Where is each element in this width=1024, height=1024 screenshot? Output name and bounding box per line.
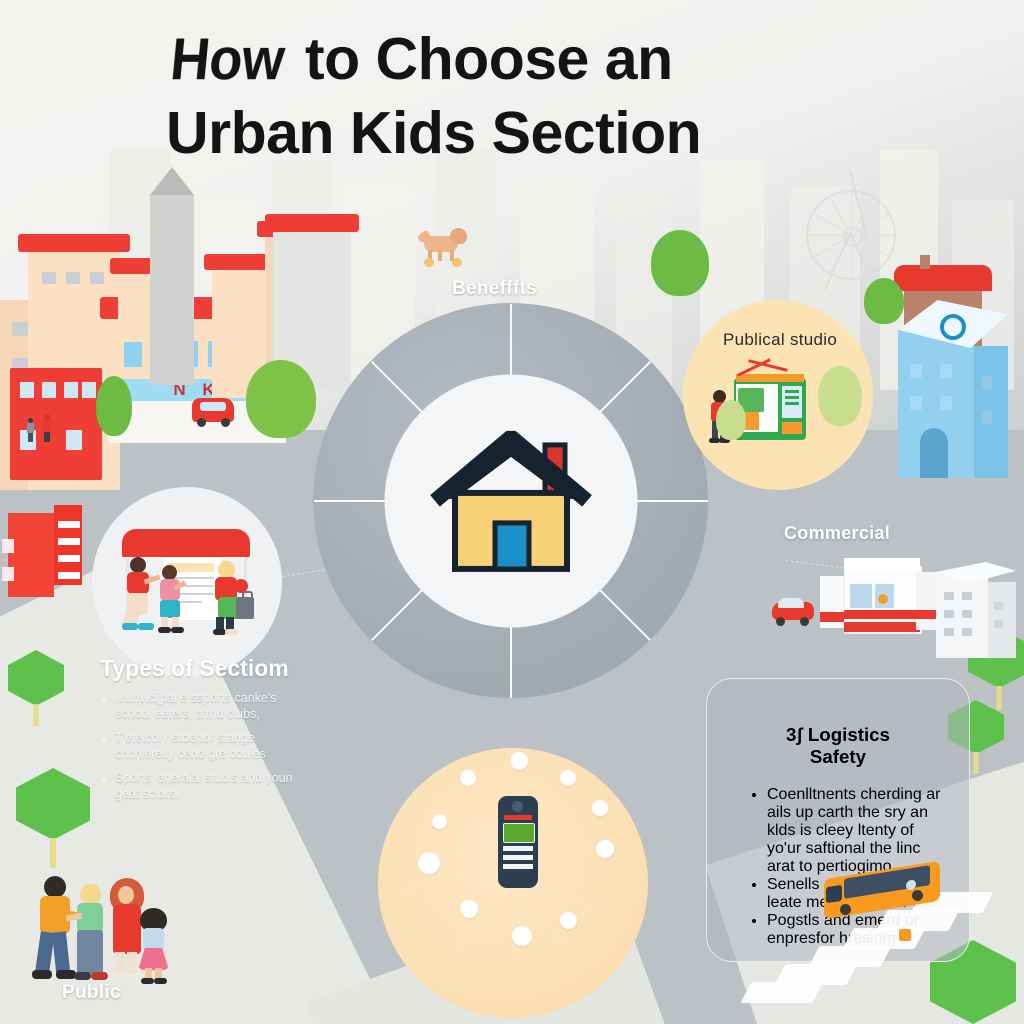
panel-heading: 3ʃ Logistics Safety: [727, 724, 949, 768]
network-node[interactable]: [432, 814, 447, 829]
blue-tower-building[interactable]: [898, 300, 1016, 480]
network-node[interactable]: [460, 900, 478, 918]
list-item: Munvicijpal é ssports canke's school eet…: [100, 691, 305, 722]
house-icon: [425, 430, 597, 576]
title-line2: Urban Kids Section: [166, 96, 886, 170]
pedestrian: [26, 418, 35, 442]
figure-child: [156, 565, 186, 633]
car-wheel: [197, 418, 206, 427]
infographic-canvas: N K: [0, 0, 1024, 1024]
scene-label-public: Public: [62, 982, 121, 1004]
mobile-device-icon[interactable]: [498, 796, 538, 888]
network-node[interactable]: [560, 770, 576, 786]
car-icon: [772, 596, 814, 626]
city-building-red: [10, 368, 102, 480]
figure-girl: [136, 910, 172, 986]
network-node[interactable]: [512, 926, 532, 946]
tree: [818, 366, 862, 426]
city-tower: [150, 195, 194, 385]
hex-tree: [8, 650, 64, 706]
panel-heading-line1: 3ʃ Logistics: [786, 724, 890, 745]
family-group-icon: [26, 866, 174, 988]
page-title: How to Choose an Urban Kids Section: [166, 22, 886, 170]
network-node[interactable]: [460, 770, 476, 786]
title-glitch-word: How: [167, 22, 287, 96]
network-node[interactable]: [510, 752, 528, 770]
ring-logo-icon: [940, 314, 966, 340]
tree: [651, 230, 709, 296]
office-building-icon: [936, 562, 1018, 658]
tree: [246, 360, 316, 438]
shop-building-icon[interactable]: [820, 558, 936, 640]
network-edge: [512, 879, 513, 961]
pedestrian: [42, 414, 52, 442]
scene-label-commercial: Commercial: [784, 523, 890, 544]
tree: [96, 376, 132, 436]
list-item: Sports' eneraial studls and youn geat sc…: [100, 771, 305, 802]
scene-types-of-section[interactable]: [92, 487, 282, 677]
dog-icon: [418, 228, 470, 262]
network-edge: [401, 878, 513, 889]
network-edge: [453, 878, 513, 955]
panel-bullet-list: Munvicijpal é ssports canke's school eet…: [100, 691, 305, 802]
scene-device-network[interactable]: [378, 748, 648, 1018]
tree: [716, 400, 746, 440]
figure-child: [122, 557, 156, 631]
hex-tree: [16, 768, 90, 840]
panel-heading-line2: Safety: [810, 746, 866, 767]
red-block-building: [8, 505, 84, 597]
title-line1-rest: to Choose an: [289, 26, 673, 92]
scene-label-publical-studio: Publical studio: [723, 330, 837, 350]
network-node[interactable]: [596, 840, 614, 858]
traffic-marker: [899, 929, 911, 941]
central-hub-wheel[interactable]: [313, 303, 708, 698]
market-stall-icon: [116, 529, 258, 637]
network-node[interactable]: [592, 800, 608, 816]
tree: [864, 278, 904, 324]
network-node[interactable]: [560, 912, 577, 929]
hub-label: Benefffts: [452, 278, 537, 300]
car-window: [200, 402, 226, 411]
car-wheel: [221, 418, 230, 427]
bus-icon[interactable]: [818, 858, 948, 928]
network-node[interactable]: [418, 852, 440, 874]
figure-boy: [70, 884, 110, 984]
panel-heading: Types of Sectiom: [100, 655, 305, 681]
list-item: T'eteicol r stoehor stange cnchlerelly c…: [100, 731, 305, 762]
panel-types-of-section: Types of Sectiom Munvicijpal é ssports c…: [100, 655, 305, 811]
figure-adult: [212, 561, 252, 635]
